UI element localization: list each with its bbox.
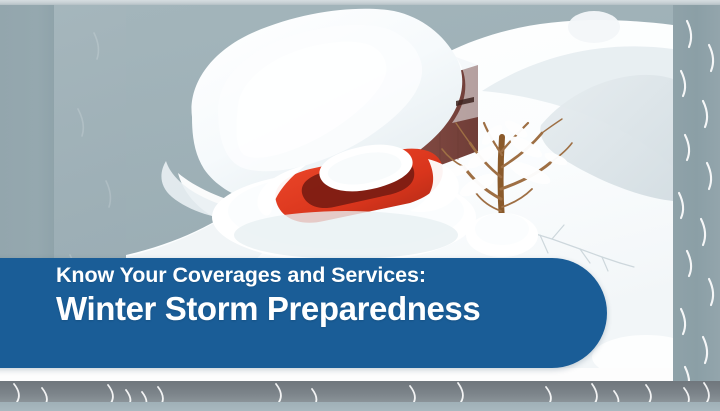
- car-body: [275, 149, 442, 223]
- buried-red-car: [212, 145, 476, 263]
- bottom-light-strip: [0, 402, 720, 411]
- car-roof-snow: [319, 145, 412, 192]
- winter-storm-banner: Know Your Coverages and Services: Winter…: [0, 0, 720, 411]
- bare-tree-right: [442, 118, 634, 271]
- top-edge-strip: [0, 0, 720, 5]
- house-window: [456, 97, 474, 106]
- headline-text-block: Know Your Coverages and Services: Winter…: [56, 262, 596, 330]
- snow-mound-right: [540, 75, 673, 201]
- headline-eyebrow: Know Your Coverages and Services:: [56, 262, 596, 288]
- snow-bump-right: [592, 335, 673, 379]
- car-cabin: [302, 158, 415, 208]
- twig-shadow-left: [244, 91, 322, 133]
- right-snow-streaks-icon: [673, 5, 720, 411]
- bottom-snow-streaks-icon: [0, 378, 720, 406]
- headline-title: Winter Storm Preparedness: [56, 288, 596, 330]
- bare-tree-left: [315, 22, 378, 135]
- snowball-top-right: [568, 11, 620, 43]
- snow-covered-house: [161, 9, 478, 233]
- bottom-gray-band: [0, 381, 720, 404]
- right-gray-band: [673, 5, 720, 411]
- banner-underlay-strip: [0, 368, 673, 382]
- house-roof-snow: [192, 9, 463, 204]
